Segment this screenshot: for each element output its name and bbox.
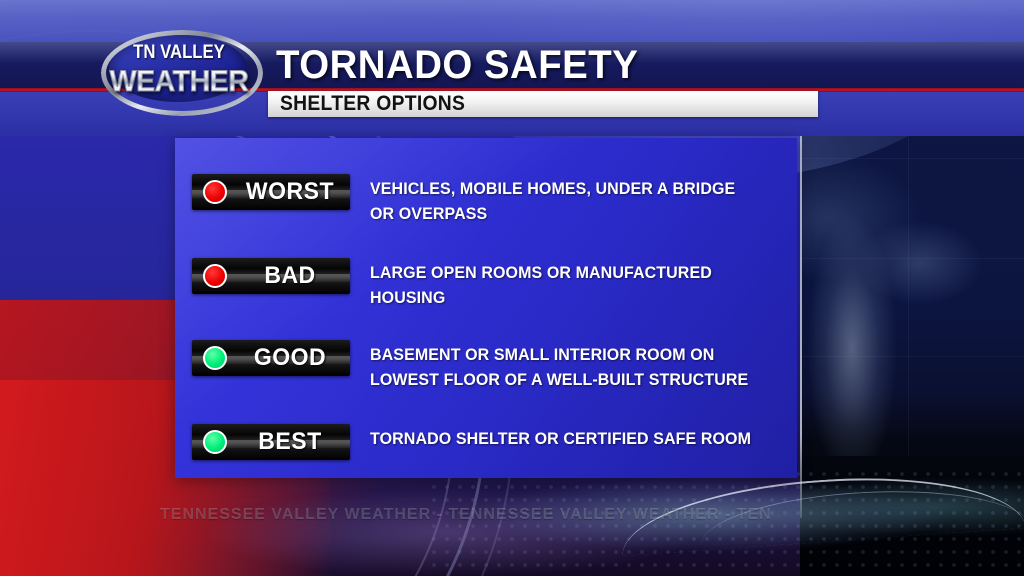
rating-label: BEST [238, 424, 342, 460]
subtitle-bar: SHELTER OPTIONS [268, 91, 818, 117]
status-dot-green-icon [203, 346, 227, 370]
station-logo: TN VALLEY WEATHER [95, 32, 263, 104]
rating-label: GOOD [238, 340, 342, 376]
station-watermark: TENNESSEE VALLEY WEATHER - TENNESSEE VAL… [160, 506, 1024, 528]
weather-graphic: TN VALLEY WEATHER TORNADO SAFETY SHELTER… [0, 0, 1024, 576]
logo-line-1: TN VALLEY [105, 42, 253, 64]
rating-chip-best: BEST [192, 424, 350, 460]
shelter-row-good: GOOD BASEMENT OR SMALL INTERIOR ROOM ON … [192, 340, 760, 393]
rating-chip-bad: BAD [192, 258, 350, 294]
rating-label: WORST [238, 174, 342, 210]
rating-chip-worst: WORST [192, 174, 350, 210]
shelter-description: LARGE OPEN ROOMS OR MANUFACTURED HOUSING [370, 258, 712, 311]
vertical-divider [800, 98, 802, 518]
shelter-description: BASEMENT OR SMALL INTERIOR ROOM ON LOWES… [370, 340, 748, 393]
shelter-description: VEHICLES, MOBILE HOMES, UNDER A BRIDGE O… [370, 174, 735, 227]
status-dot-red-icon [203, 264, 227, 288]
subtitle-text: SHELTER OPTIONS [280, 91, 465, 117]
shelter-row-worst: WORST VEHICLES, MOBILE HOMES, UNDER A BR… [192, 174, 747, 227]
shelter-description: TORNADO SHELTER OR CERTIFIED SAFE ROOM [370, 424, 751, 452]
rating-chip-good: GOOD [192, 340, 350, 376]
shelter-options-panel: WORST VEHICLES, MOBILE HOMES, UNDER A BR… [175, 138, 797, 478]
status-dot-red-icon [203, 180, 227, 204]
status-dot-green-icon [203, 430, 227, 454]
rating-label: BAD [238, 258, 342, 294]
logo-line-2: WEATHER [99, 65, 259, 99]
page-title: TORNADO SAFETY [276, 43, 638, 87]
shelter-row-best: BEST TORNADO SHELTER OR CERTIFIED SAFE R… [192, 424, 763, 460]
shelter-row-bad: BAD LARGE OPEN ROOMS OR MANUFACTURED HOU… [192, 258, 722, 311]
